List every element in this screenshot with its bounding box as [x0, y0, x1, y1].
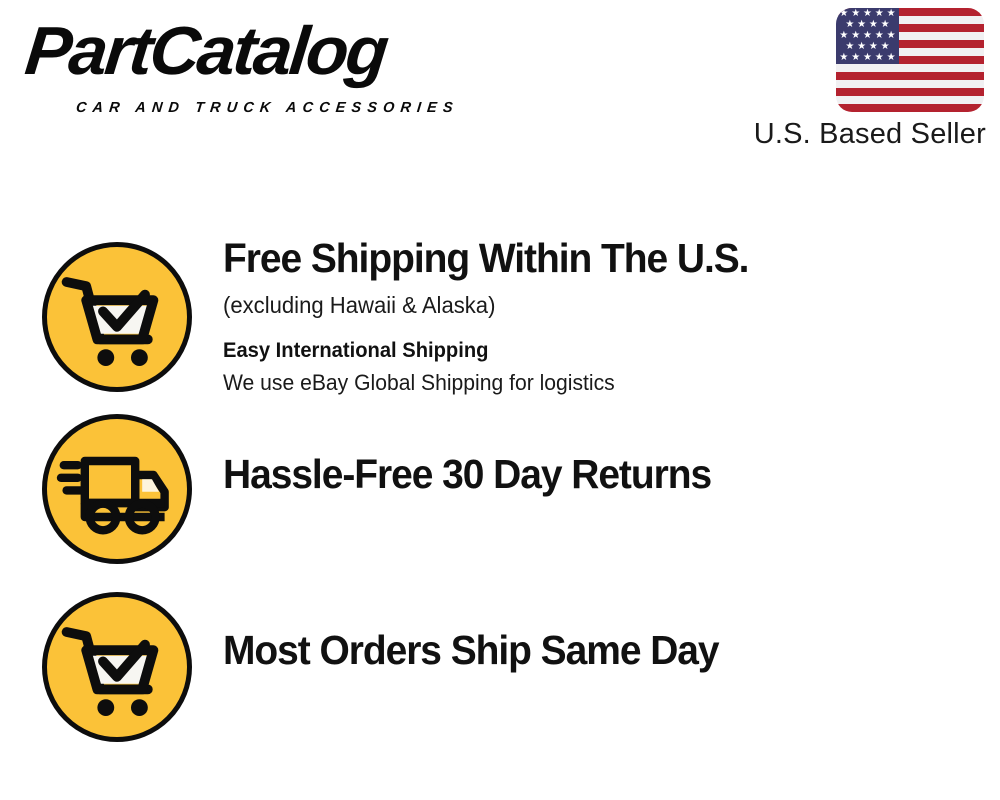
us-based-seller-block: ★ ★ ★ ★ ★ ★ ★ ★ ★ ★ ★ ★ ★ ★: [710, 8, 986, 151]
feature-subtitle: (excluding Hawaii & Alaska): [223, 289, 950, 322]
flag-star: ★: [851, 31, 860, 41]
flag-star: ★: [845, 42, 854, 52]
us-flag-icon: ★ ★ ★ ★ ★ ★ ★ ★ ★ ★ ★ ★ ★ ★: [836, 8, 984, 112]
flag-star-row: ★ ★ ★ ★ ★: [836, 30, 899, 41]
feature-title: Hassle-Free 30 Day Returns: [223, 452, 942, 498]
flag-star: ★: [839, 9, 848, 19]
shopping-cart-check-icon: [42, 592, 192, 742]
flag-star: ★: [857, 20, 866, 30]
feature-text: Hassle-Free 30 Day Returns: [223, 452, 980, 498]
flag-star: ★: [863, 9, 872, 19]
feature-title: Most Orders Ship Same Day: [223, 628, 942, 674]
flag-star: ★: [875, 53, 884, 63]
flag-star: ★: [869, 20, 878, 30]
flag-star: ★: [839, 53, 848, 63]
flag-star: ★: [845, 20, 854, 30]
flag-star-row: ★ ★ ★ ★: [836, 42, 899, 53]
brand-logo-wordmark: PartCatalog: [22, 16, 390, 87]
flag-star: ★: [851, 53, 860, 63]
feature-text: Free Shipping Within The U.S. (excluding…: [223, 236, 980, 398]
flag-star-row: ★ ★ ★ ★ ★: [836, 53, 899, 64]
flag-star: ★: [875, 9, 884, 19]
flag-star-row: ★ ★ ★ ★: [836, 19, 899, 30]
delivery-truck-icon: [42, 414, 192, 564]
shopping-cart-check-icon: [42, 242, 192, 392]
flag-star: ★: [839, 31, 848, 41]
flag-star: ★: [887, 9, 896, 19]
flag-star: ★: [881, 20, 890, 30]
flag-star: ★: [881, 42, 890, 52]
feature-row: Free Shipping Within The U.S. (excluding…: [0, 236, 1000, 411]
flag-star: ★: [863, 53, 872, 63]
flag-star: ★: [863, 31, 872, 41]
feature-row: Hassle-Free 30 Day Returns: [0, 414, 1000, 579]
us-based-seller-label: U.S. Based Seller: [710, 118, 986, 151]
flag-star: ★: [869, 42, 878, 52]
flag-star: ★: [857, 42, 866, 52]
feature-secondary-subtitle: We use eBay Global Shipping for logistic…: [223, 368, 950, 399]
flag-star-row: ★ ★ ★ ★ ★: [836, 8, 899, 19]
flag-canton: ★ ★ ★ ★ ★ ★ ★ ★ ★ ★ ★ ★ ★ ★: [836, 8, 899, 64]
promo-banner: PartCatalog CAR AND TRUCK ACCESSORIES ★ …: [0, 0, 1000, 800]
feature-row: Most Orders Ship Same Day: [0, 586, 1000, 751]
flag-star: ★: [887, 53, 896, 63]
brand-logo[interactable]: PartCatalog CAR AND TRUCK ACCESSORIES: [22, 20, 492, 120]
feature-secondary-title: Easy International Shipping: [223, 336, 950, 365]
flag-star: ★: [875, 31, 884, 41]
flag-star: ★: [851, 9, 860, 19]
feature-text: Most Orders Ship Same Day: [223, 628, 980, 674]
brand-logo-tagline: CAR AND TRUCK ACCESSORIES: [75, 100, 459, 116]
feature-title: Free Shipping Within The U.S.: [223, 236, 942, 282]
flag-star: ★: [887, 31, 896, 41]
